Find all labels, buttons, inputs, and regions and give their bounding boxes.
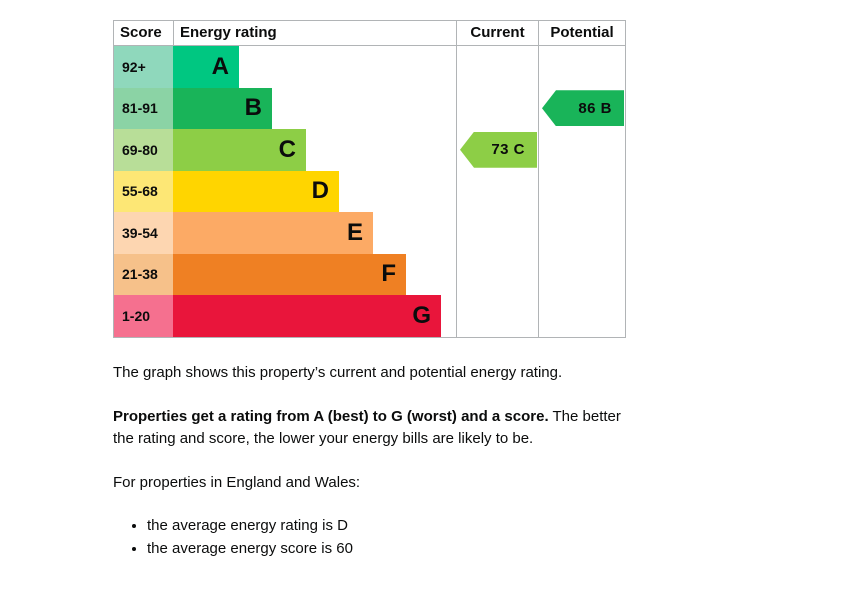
intro-paragraph: The graph shows this property’s current …: [113, 362, 643, 384]
band-bar-f: F: [173, 254, 406, 296]
list-item: the average energy rating is D: [147, 514, 643, 537]
band-score-e: 39-54: [114, 212, 173, 254]
band-row-c: 69-80 C: [114, 129, 456, 171]
rating-explanation-paragraph: Properties get a rating from A (best) to…: [113, 406, 643, 450]
band-score-a: 92+: [114, 46, 173, 88]
band-score-f: 21-38: [114, 254, 173, 296]
band-row-a: 92+ A: [114, 46, 456, 88]
rating-bands-column: 92+ A 81-91 B 69-80 C 55-68 D 39-54: [114, 46, 456, 337]
band-bar-b: B: [173, 88, 272, 130]
band-score-d: 55-68: [114, 171, 173, 213]
current-rating-badge: 73 C: [460, 132, 537, 168]
band-bar-c: C: [173, 129, 306, 171]
band-score-g: 1-20: [114, 295, 173, 337]
band-row-e: 39-54 E: [114, 212, 456, 254]
band-bar-a: A: [173, 46, 239, 88]
band-row-f: 21-38 F: [114, 254, 456, 296]
band-row-g: 1-20 G: [114, 295, 456, 337]
band-bar-e: E: [173, 212, 373, 254]
band-bar-d: D: [173, 171, 339, 213]
averages-list: the average energy rating is D the avera…: [113, 514, 643, 560]
epc-page: Score Energy rating Current Potential 92…: [0, 0, 867, 596]
header-potential: Potential: [538, 21, 625, 45]
chart-header-row: Score Energy rating Current Potential: [114, 21, 625, 46]
header-energy-rating: Energy rating: [173, 21, 456, 45]
current-rating-column: 73 C: [456, 46, 538, 337]
band-score-b: 81-91: [114, 88, 173, 130]
header-score: Score: [114, 21, 173, 45]
potential-rating-badge: 86 B: [542, 90, 624, 126]
explanatory-text: The graph shows this property’s current …: [113, 362, 643, 560]
potential-rating-column: 86 B: [538, 46, 625, 337]
band-row-d: 55-68 D: [114, 171, 456, 213]
header-current: Current: [456, 21, 538, 45]
energy-rating-chart: Score Energy rating Current Potential 92…: [113, 20, 626, 338]
band-score-c: 69-80: [114, 129, 173, 171]
list-item: the average energy score is 60: [147, 537, 643, 560]
band-row-b: 81-91 B: [114, 88, 456, 130]
band-bar-g: G: [173, 295, 441, 337]
rating-explanation-bold: Properties get a rating from A (best) to…: [113, 408, 549, 425]
region-intro-paragraph: For properties in England and Wales:: [113, 472, 643, 494]
chart-body: 92+ A 81-91 B 69-80 C 55-68 D 39-54: [114, 46, 625, 337]
